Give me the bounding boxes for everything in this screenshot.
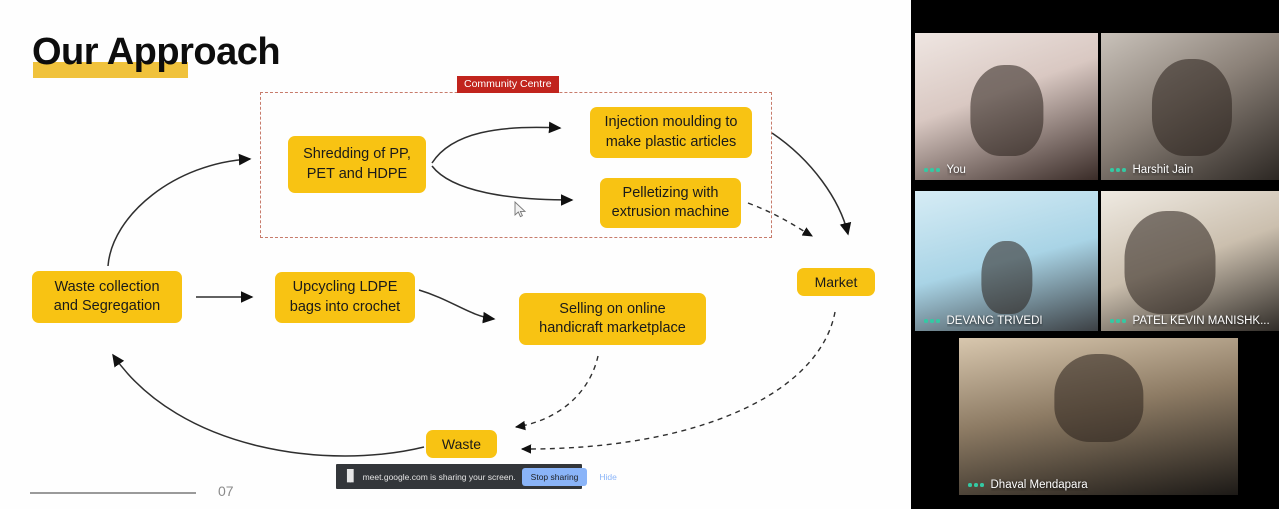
pause-icon[interactable]: ▐▌ xyxy=(343,471,357,482)
participant-name: Dhaval Mendapara xyxy=(991,479,1088,491)
mic-activity-icon xyxy=(1110,319,1126,323)
video-tile-you[interactable]: You xyxy=(915,33,1098,180)
share-message: meet.google.com is sharing your screen. xyxy=(363,472,516,482)
meet-participant-rail: You Harshit Jain DEVANG TRIVED xyxy=(911,0,1279,509)
arrow-upcycling-to-selling xyxy=(419,290,494,319)
video-feed xyxy=(1101,191,1279,331)
video-feed xyxy=(1101,33,1279,180)
mic-activity-icon xyxy=(968,483,984,487)
node-waste-collection[interactable]: Waste collection and Segregation xyxy=(32,271,182,323)
node-market[interactable]: Market xyxy=(797,268,875,296)
footer-divider xyxy=(30,492,196,494)
mic-activity-icon xyxy=(924,168,940,172)
hide-button[interactable]: Hide xyxy=(593,468,622,486)
tile-caption: DEVANG TRIVEDI xyxy=(915,315,1043,327)
tile-caption: PATEL KEVIN MANISHK... xyxy=(1101,315,1270,327)
tile-caption: You xyxy=(915,164,966,176)
page-title: Our Approach xyxy=(32,31,280,74)
participant-name: PATEL KEVIN MANISHK... xyxy=(1133,315,1270,327)
page-number: 07 xyxy=(218,483,234,499)
arrow-selling-to-waste-dashed xyxy=(516,356,598,427)
video-tile-dhaval-mendapara[interactable]: Dhaval Mendapara xyxy=(959,338,1238,495)
node-upcycling-ldpe[interactable]: Upcycling LDPE bags into crochet xyxy=(275,272,415,323)
arrow-waste-to-collection xyxy=(113,355,424,456)
video-tile-harshit-jain[interactable]: Harshit Jain xyxy=(1101,33,1279,180)
node-selling-online[interactable]: Selling on online handicraft marketplace xyxy=(519,293,706,345)
node-shredding[interactable]: Shredding of PP, PET and HDPE xyxy=(288,136,426,193)
video-feed xyxy=(915,191,1098,331)
tile-caption: Harshit Jain xyxy=(1101,164,1193,176)
node-pelletizing[interactable]: Pelletizing with extrusion machine xyxy=(600,178,741,228)
arrow-injection-to-market xyxy=(772,133,848,234)
presentation-slide: Our Approach xyxy=(0,0,911,509)
tile-caption: Dhaval Mendapara xyxy=(959,479,1088,491)
mic-activity-icon xyxy=(924,319,940,323)
mouse-cursor-icon xyxy=(514,201,527,219)
participant-name: Harshit Jain xyxy=(1133,164,1194,176)
community-centre-label: Community Centre xyxy=(457,76,559,93)
stop-sharing-button[interactable]: Stop sharing xyxy=(522,468,588,486)
screen-share-bar: ▐▌ meet.google.com is sharing your scree… xyxy=(336,464,582,489)
arrow-collection-to-shredding xyxy=(108,159,250,266)
node-waste[interactable]: Waste xyxy=(426,430,497,458)
video-tile-patel-kevin[interactable]: PATEL KEVIN MANISHK... xyxy=(1101,191,1279,331)
participant-name: DEVANG TRIVEDI xyxy=(947,315,1043,327)
mic-activity-icon xyxy=(1110,168,1126,172)
screen: Our Approach xyxy=(0,0,1279,509)
participant-name: You xyxy=(947,164,966,176)
video-tile-devang-trivedi[interactable]: DEVANG TRIVEDI xyxy=(915,191,1098,331)
video-feed xyxy=(959,338,1238,495)
video-feed xyxy=(915,33,1098,180)
node-injection-moulding[interactable]: Injection moulding to make plastic artic… xyxy=(590,107,752,158)
